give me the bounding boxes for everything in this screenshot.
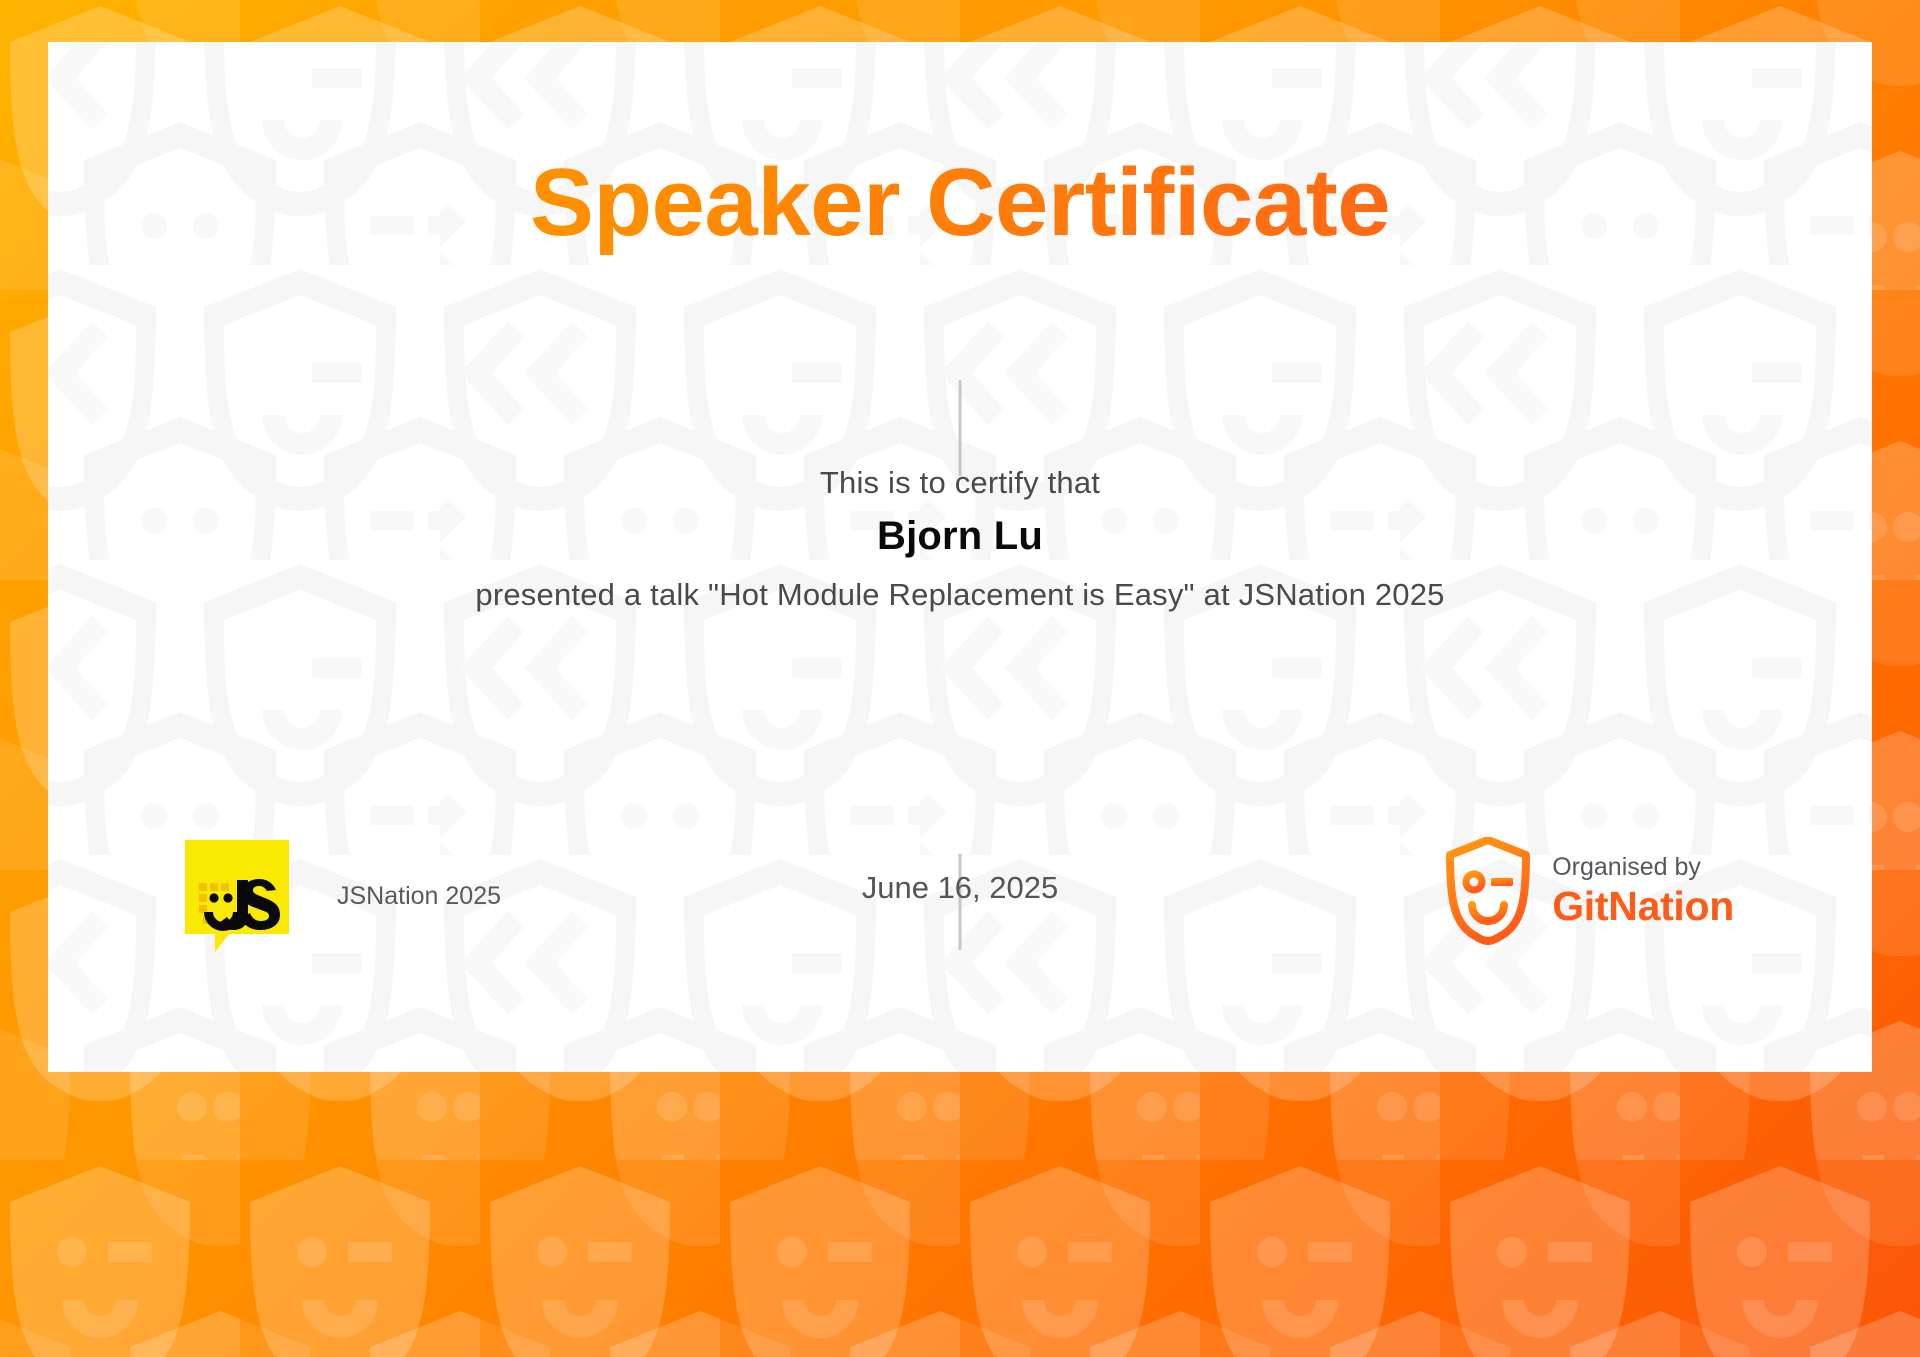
event-label: JSNation 2025 [337,882,501,911]
page-title: Speaker Certificate [48,150,1872,256]
divider-top [959,380,962,476]
organiser-branding: Organised by GitNation [1446,837,1734,945]
jsnation-js-logo [185,840,289,952]
organiser-name: GitNation [1552,883,1734,930]
recipient-name: Bjorn Lu [48,514,1872,559]
event-branding: JSNation 2025 [185,840,501,952]
gitnation-shield-icon [1446,837,1530,945]
talk-description: presented a talk "Hot Module Replacement… [48,577,1872,613]
organised-by-label: Organised by [1552,852,1734,883]
certificate-card: Speaker Certificate This is to certify t… [48,42,1872,1072]
certify-line: This is to certify that [48,465,1872,501]
speaker-certificate: Speaker Certificate This is to certify t… [0,0,1920,1357]
